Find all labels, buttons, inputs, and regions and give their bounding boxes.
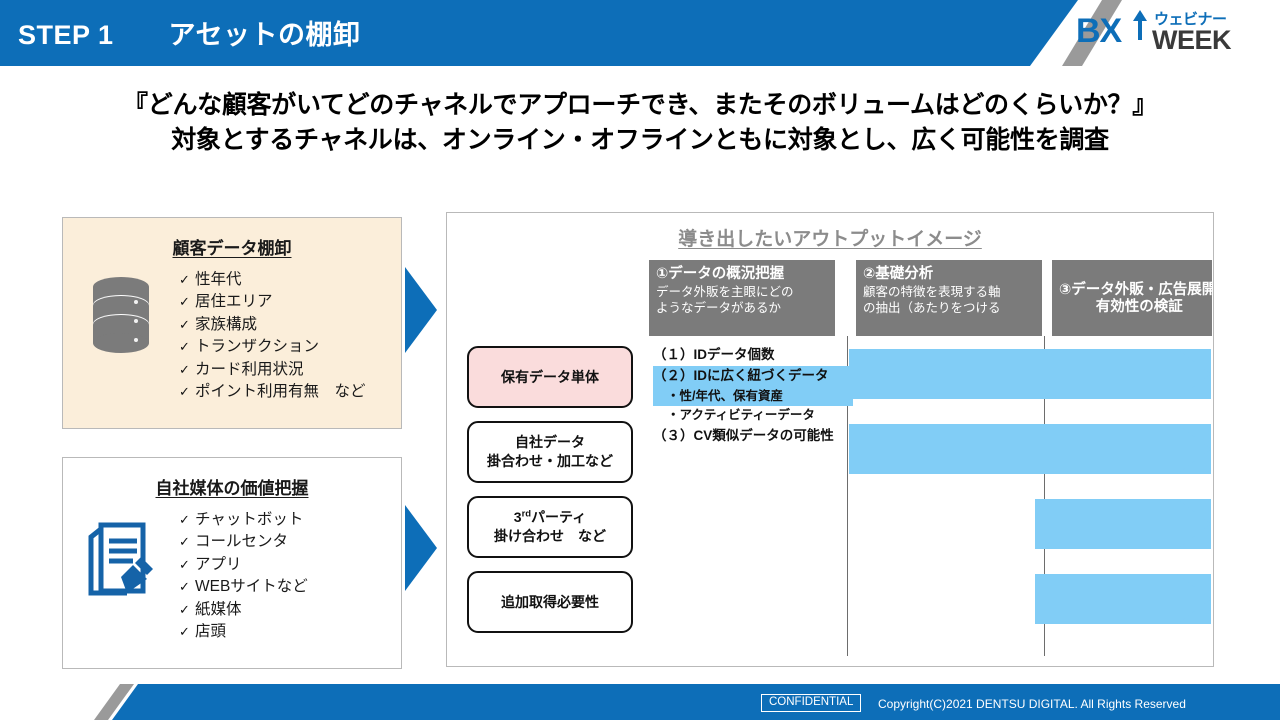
- column-header-2-sub: 顧客の特徴を表現する軸 の抽出（あたりをつける: [863, 285, 1035, 317]
- page-title: STEP 1 アセットの棚卸: [18, 13, 361, 52]
- list-item: ✓店頭: [179, 621, 395, 643]
- list-item: ✓ポイント利用有無 など: [179, 381, 395, 403]
- customer-data-list: ✓性年代 ✓居住エリア ✓家族構成 ✓トランザクション ✓カード利用状況 ✓ポイ…: [179, 269, 401, 404]
- output-image-panel: 導き出したいアウトプットイメージ ①データの概況把握 データ外販を主眼にどの よ…: [446, 212, 1214, 667]
- row-label-owned-data[interactable]: 保有データ単体: [467, 346, 633, 408]
- customer-data-card: 顧客データ棚卸 ✓性年代 ✓居住エリア ✓家族構成 ✓トランザクション: [62, 217, 402, 429]
- check-icon: ✓: [179, 601, 195, 620]
- check-icon: ✓: [179, 533, 195, 552]
- document-pencil-icon: [63, 509, 179, 644]
- bullet-item-4: ・アクティビティーデータ: [653, 406, 853, 425]
- copyright-text: Copyright(C)2021 DENTSU DIGITAL. All Rig…: [878, 698, 1186, 710]
- logo-bx-text: BX: [1076, 14, 1121, 48]
- progress-arrow-1: [849, 349, 1211, 399]
- subtitle: 『どんな顧客がいてどのチャネルでアプローチでき、またそのボリュームはどのくらいか…: [0, 88, 1280, 157]
- subtitle-line-2: 対象とするチャネルは、オンライン・オフラインともに対象とし、広く可能性を調査: [0, 123, 1280, 158]
- list-item: ✓トランザクション: [179, 336, 395, 358]
- output-image-panel-title: 導き出したいアウトプットイメージ: [447, 224, 1213, 251]
- subtitle-line-1: 『どんな顧客がいてどのチャネルでアプローチでき、またそのボリュームはどのくらいか…: [0, 88, 1280, 123]
- check-icon: ✓: [179, 271, 195, 290]
- list-item: ✓カード利用状況: [179, 359, 395, 381]
- column-header-3-heading: ③データ外販・広告展開 有効性の検証: [1059, 282, 1205, 317]
- database-icon: [63, 269, 179, 404]
- list-item: ✓コールセンタ: [179, 531, 395, 553]
- list-item: ✓紙媒体: [179, 599, 395, 621]
- bullet-item-5: （３）CV類似データの可能性: [653, 426, 853, 447]
- customer-data-card-title: 顧客データ棚卸: [63, 234, 401, 259]
- owned-media-card-title: 自社媒体の価値把握: [63, 474, 401, 499]
- column-header-2-heading: ②基礎分析: [863, 266, 1035, 283]
- check-icon: ✓: [179, 338, 195, 357]
- check-icon: ✓: [179, 578, 195, 597]
- list-item: ✓家族構成: [179, 314, 395, 336]
- flow-arrow-icon-2: [405, 505, 437, 591]
- check-icon: ✓: [179, 623, 195, 642]
- owned-media-card: 自社媒体の価値把握 ✓チャットボット ✓コールセン: [62, 457, 402, 669]
- check-icon: ✓: [179, 511, 195, 530]
- row-label-additional-acquisition[interactable]: 追加取得必要性: [467, 571, 633, 633]
- bullet-item-2: （２）IDに広く紐づくデータ: [653, 366, 853, 387]
- check-icon: ✓: [179, 556, 195, 575]
- list-item: ✓アプリ: [179, 554, 395, 576]
- row-label-third-party-text: 3rdパーティ掛け合わせ など: [494, 508, 606, 546]
- check-icon: ✓: [179, 316, 195, 335]
- bullet-item-1: （１）IDデータ個数: [653, 345, 853, 366]
- bx-webinar-week-logo: BX ウェビナー WEEK: [1076, 8, 1266, 60]
- progress-arrow-3: [1035, 499, 1211, 549]
- column-header-1-sub: データ外販を主眼にどの ようなデータがあるか: [656, 285, 828, 317]
- row-label-first-party[interactable]: 自社データ 掛合わせ・加工など: [467, 421, 633, 483]
- column-header-1-heading: ①データの概況把握: [656, 266, 828, 283]
- column-header-1: ①データの概況把握 データ外販を主眼にどの ようなデータがあるか: [649, 260, 835, 336]
- bullet-item-3: ・性/年代、保有資産: [653, 387, 853, 406]
- list-item: ✓性年代: [179, 269, 395, 291]
- owned-media-list: ✓チャットボット ✓コールセンタ ✓アプリ ✓WEBサイトなど ✓紙媒体 ✓店頭: [179, 509, 401, 644]
- up-arrow-icon: [1132, 10, 1148, 40]
- list-item: ✓WEBサイトなど: [179, 576, 395, 598]
- progress-arrow-2: [849, 424, 1211, 474]
- list-item: ✓居住エリア: [179, 291, 395, 313]
- status-badge-confidential: CONFIDENTIAL: [761, 694, 861, 713]
- check-icon: ✓: [179, 383, 195, 402]
- logo-week-text: WEEK: [1152, 27, 1231, 54]
- bullet-list: （１）IDデータ個数 （２）IDに広く紐づくデータ ・性/年代、保有資産 ・アク…: [653, 345, 853, 447]
- check-icon: ✓: [179, 361, 195, 380]
- check-icon: ✓: [179, 293, 195, 312]
- progress-arrow-4: [1035, 574, 1211, 624]
- list-item: ✓チャットボット: [179, 509, 395, 531]
- column-header-2: ②基礎分析 顧客の特徴を表現する軸 の抽出（あたりをつける: [856, 260, 1042, 336]
- row-label-third-party[interactable]: 3rdパーティ掛け合わせ など: [467, 496, 633, 558]
- column-header-3: ③データ外販・広告展開 有効性の検証: [1052, 260, 1212, 336]
- flow-arrow-icon-1: [405, 267, 437, 353]
